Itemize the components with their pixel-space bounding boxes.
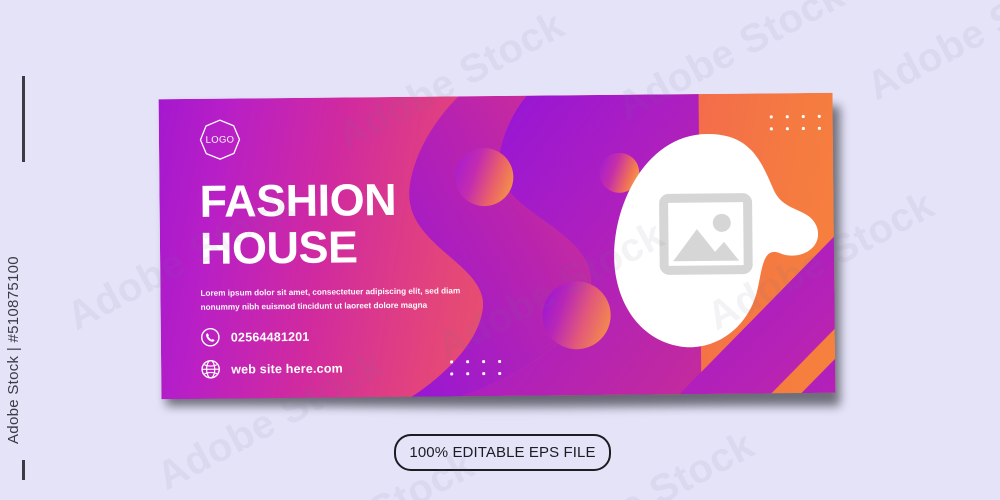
banner-content: LOGO FASHION HOUSE Lorem ipsum dolor sit…: [199, 116, 531, 379]
tagline-text: Lorem ipsum dolor sit amet, consectetuer…: [200, 284, 470, 315]
website-url: web site here.com: [231, 361, 343, 376]
globe-icon: [201, 360, 220, 379]
dot-grid-top-right: [770, 115, 821, 130]
editable-eps-badge: 100% EDITABLE EPS FILE: [394, 434, 611, 471]
dot: [802, 127, 805, 130]
contact-row-website[interactable]: web site here.com: [201, 357, 531, 379]
dot: [770, 127, 773, 130]
editable-eps-label: 100% EDITABLE EPS FILE: [409, 444, 595, 461]
stock-credit-strip: Adobe Stock | #510875100: [0, 0, 52, 500]
dot: [818, 127, 821, 130]
banner-artboard: LOGO FASHION HOUSE Lorem ipsum dolor sit…: [159, 93, 836, 399]
strip-bar-top: [22, 76, 25, 162]
phone-number: 02564481201: [231, 330, 310, 345]
phone-icon: [201, 328, 220, 347]
strip-bar-bottom: [22, 460, 25, 480]
headline-line-1: FASHION: [199, 174, 396, 227]
page-title: FASHION HOUSE: [199, 176, 530, 273]
stock-credit-text: Adobe Stock | #510875100: [5, 256, 22, 444]
banner-card: LOGO FASHION HOUSE Lorem ipsum dolor sit…: [160, 96, 834, 396]
dot: [802, 115, 805, 118]
contact-row-phone[interactable]: 02564481201: [201, 325, 531, 347]
headline-line-2: HOUSE: [200, 222, 530, 272]
logo-text: LOGO: [199, 118, 241, 160]
dot: [786, 115, 789, 118]
dot: [786, 127, 789, 130]
watermark-text: Adobe Stock: [860, 0, 1000, 110]
dot: [770, 115, 773, 118]
photo-placeholder-blob[interactable]: [611, 131, 821, 355]
logo-badge[interactable]: LOGO: [199, 118, 241, 160]
dot: [818, 115, 821, 118]
